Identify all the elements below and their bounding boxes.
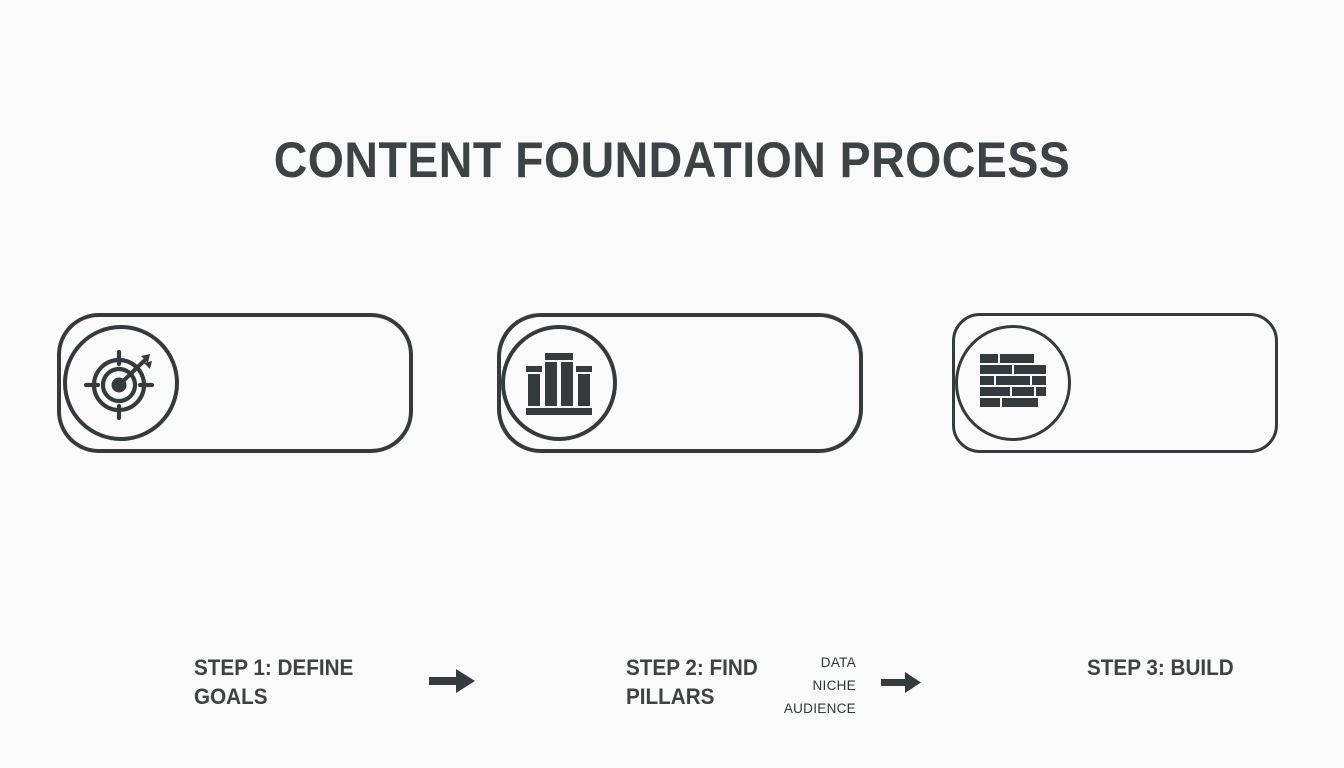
step-3-label: STEP 3: BUILD	[1087, 653, 1247, 682]
diagram-canvas: CONTENT FOUNDATION PROCESS	[0, 0, 1344, 768]
step-3-icon-badge	[955, 325, 1071, 441]
connector-1-arrow-right-icon	[429, 663, 477, 706]
process-flow: STEP 2: FIND PILLARS DATA NICHE AUDIENCE	[0, 300, 1344, 470]
step-2-sublist: DATA NICHE AUDIENCE	[741, 651, 856, 720]
step-2-sublist-item-1: DATA	[741, 651, 856, 674]
brick-wall-icon	[976, 352, 1050, 414]
step-2-sublist-item-2: NICHE	[741, 674, 856, 697]
target-arrow-icon	[82, 344, 160, 422]
step-2-sublist-item-3: AUDIENCE	[741, 697, 856, 720]
pillars-icon	[521, 347, 597, 419]
step-2-icon-badge	[501, 325, 617, 441]
connector-2-arrow-right-icon	[881, 667, 923, 704]
step-1-label: STEP 1: DEFINE GOALS	[194, 653, 373, 711]
step-1-icon-badge	[63, 325, 179, 441]
page-title: CONTENT FOUNDATION PROCESS	[47, 131, 1297, 189]
